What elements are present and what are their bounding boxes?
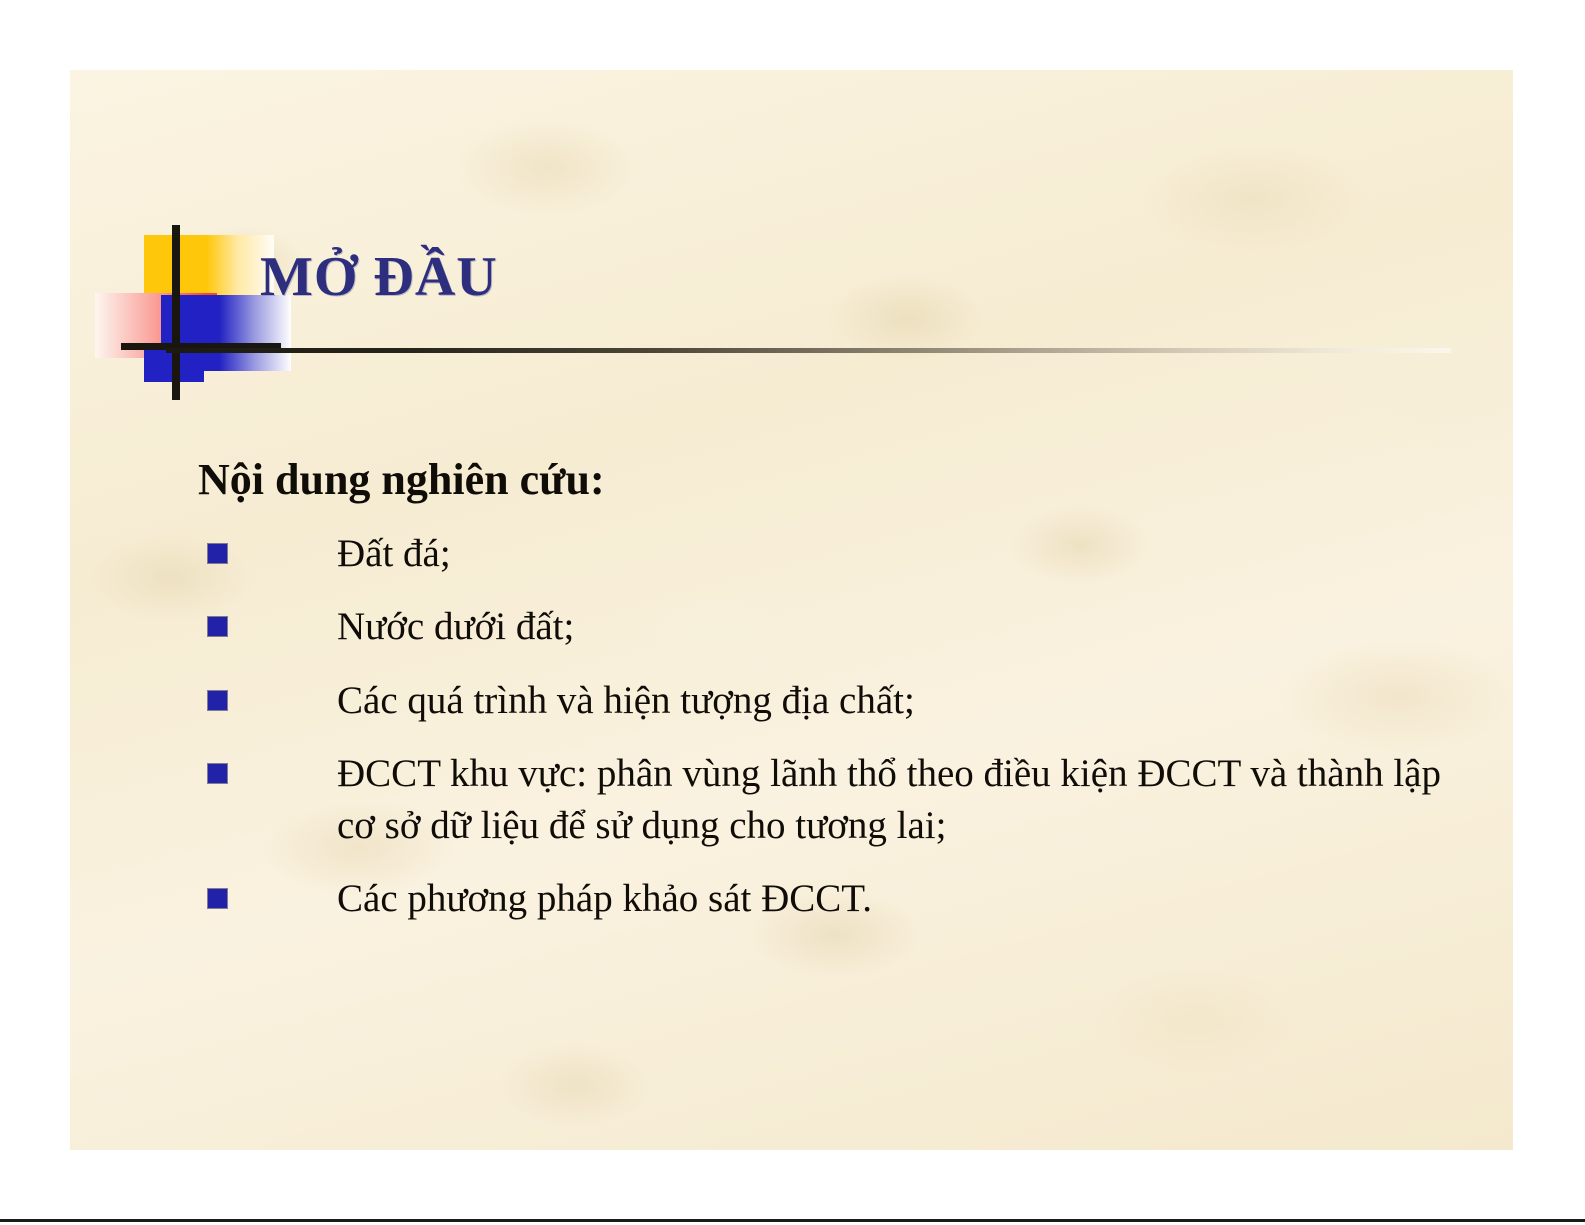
list-item: Đất đá; [198,528,1458,579]
page-bottom-divider [0,1219,1585,1222]
bullet-square-icon [208,691,227,710]
bullet-square-icon [208,544,227,563]
list-item-label: ĐCCT khu vực: phân vùng lãnh thổ theo đi… [337,748,1458,851]
bullet-square-icon [208,617,227,636]
list-item: Các phương pháp khảo sát ĐCCT. [198,873,1458,924]
bullet-square-icon [208,889,227,908]
bullet-square-icon [208,764,227,783]
list-item: Nước dưới đất; [198,601,1458,652]
list-item-label: Đất đá; [337,528,1458,579]
list-item-label: Các quá trình và hiện tượng địa chất; [337,675,1458,726]
list-item-label: Các phương pháp khảo sát ĐCCT. [337,873,1458,924]
slide-body: Nội dung nghiên cứu: Đất đá; Nước dưới đ… [70,70,1513,1150]
content-heading: Nội dung nghiên cứu: [198,454,605,505]
list-item: Các quá trình và hiện tượng địa chất; [198,675,1458,726]
slide-canvas: MỞ ĐẦU Nội dung nghiên cứu: Đất đá; Nước… [70,70,1513,1150]
list-item: ĐCCT khu vực: phân vùng lãnh thổ theo đi… [198,748,1458,851]
list-item-label: Nước dưới đất; [337,601,1458,652]
bullet-list: Đất đá; Nước dưới đất; Các quá trình và … [198,528,1458,947]
